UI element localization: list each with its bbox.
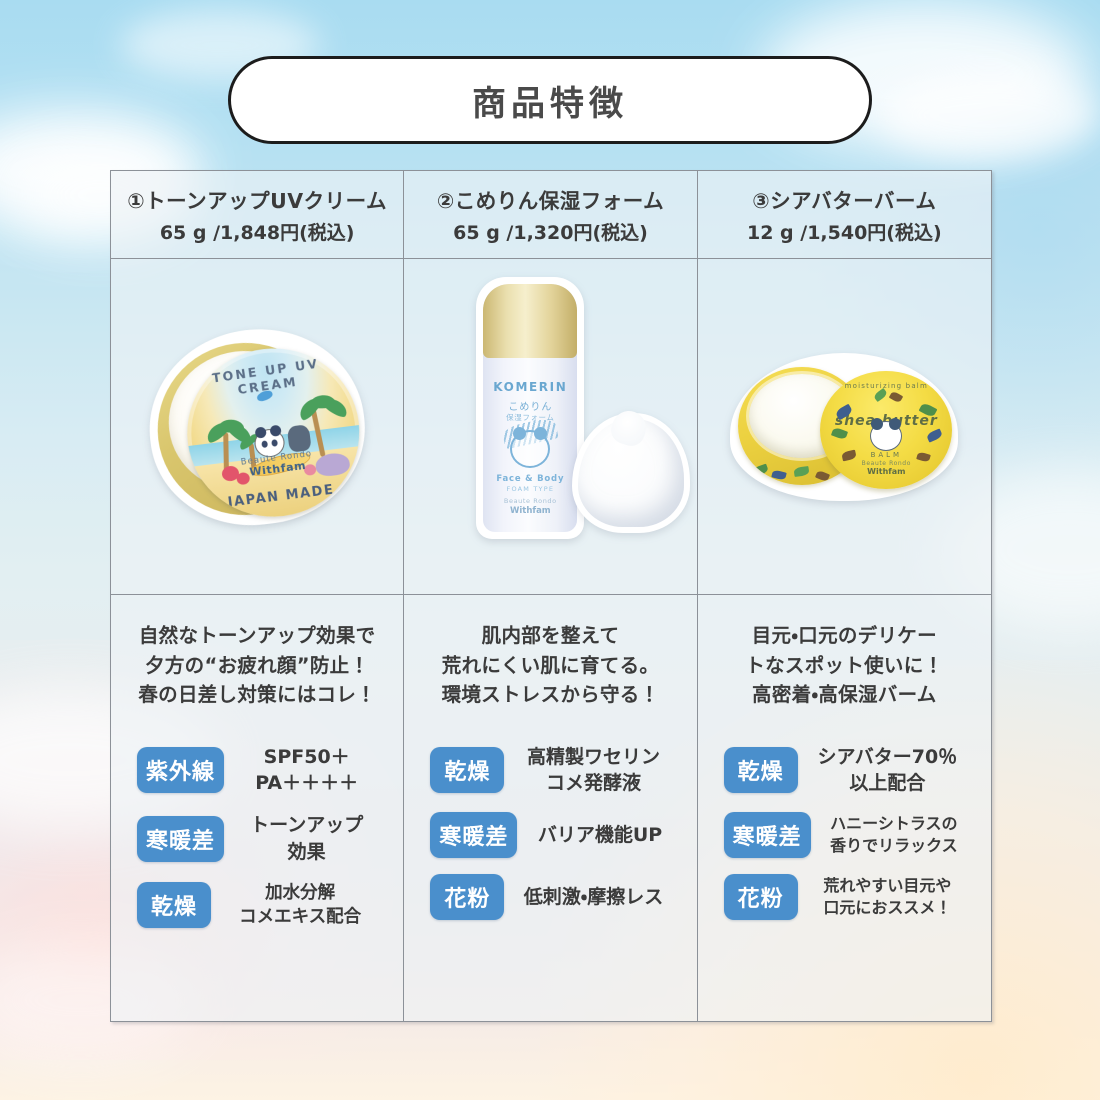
cloud-shape — [880, 70, 1100, 160]
feature-badge: 花粉 — [430, 874, 504, 920]
panda-mascot-icon — [870, 421, 902, 451]
feature-badge: 寒暖差 — [430, 812, 517, 858]
bottle-brand-block: Beaute Rondo Withfam — [483, 498, 577, 516]
leaf-decoration — [873, 387, 888, 401]
feature-badge: 乾燥 — [137, 882, 211, 928]
foam-blob-sticker — [572, 413, 690, 533]
bottle-sticker-outline: KOMERIN こめりん 保湿フォーム Face & Body FOAM TYP… — [476, 277, 584, 539]
balm-brand-block: Beaute Rondo Withfam — [820, 461, 952, 476]
balm-tin-lid: moisturizing balm shea butter BALM — [820, 371, 952, 489]
bottle-sub-line2: FOAM TYPE — [483, 485, 577, 493]
feature-row: 花粉 荒れやすい目元や 口元におススメ！ — [708, 874, 981, 920]
feature-row: 寒暖差 ハニーシトラスの 香りでリラックス — [708, 812, 981, 858]
leaf-decoration — [751, 463, 769, 477]
product-price-3: 12 g /1,540円(税込) — [747, 218, 942, 245]
balm-brand-line2: Withfam — [820, 468, 952, 477]
table-header-cell-1: ①トーンアップUVクリーム 65 g /1,848円(税込) — [111, 171, 404, 259]
bottle-brand-line1: Beaute Rondo — [483, 498, 577, 506]
product-image-cell-2: KOMERIN こめりん 保湿フォーム Face & Body FOAM TYP… — [404, 259, 697, 595]
feature-row: 乾燥 シアバター70％ 以上配合 — [708, 744, 981, 796]
bottle-sub-line1: Face & Body — [483, 474, 577, 484]
feature-text: 荒れやすい目元や 口元におススメ！ — [810, 875, 965, 919]
feature-text: SPF50＋ PA＋＋＋＋ — [236, 744, 377, 796]
product-comparison-table: ①トーンアップUVクリーム 65 g /1,848円(税込) ②こめりん保湿フォ… — [110, 170, 992, 1022]
foam-bottle: KOMERIN こめりん 保湿フォーム Face & Body FOAM TYP… — [483, 284, 577, 532]
feature-badge: 乾燥 — [724, 747, 798, 793]
product-name-1: ①トーンアップUVクリーム — [127, 184, 387, 214]
bottle-cap — [483, 284, 577, 358]
rock-shape — [287, 424, 312, 452]
jar-sticker-outline: TONE UP UV CREAM — [139, 317, 376, 537]
feature-list-2: 乾燥 高精製ワセリン コメ発酵液 寒暖差 バリア機能UP 花粉 低刺激・摩擦レス — [414, 744, 686, 920]
foam-blob — [578, 419, 684, 527]
page-title-pill: 商品特徴 — [228, 56, 872, 144]
feature-text: ハニーシトラスの 香りでリラックス — [823, 813, 965, 857]
feature-badge: 乾燥 — [430, 747, 504, 793]
feature-text: バリア機能UP — [529, 822, 670, 848]
feature-list-1: 紫外線 SPF50＋ PA＋＋＋＋ 寒暖差 トーンアップ 効果 乾燥 加水分解 … — [121, 744, 393, 929]
product-image-cell-1: TONE UP UV CREAM — [111, 259, 404, 595]
feature-row: 乾燥 高精製ワセリン コメ発酵液 — [414, 744, 686, 796]
feature-list-3: 乾燥 シアバター70％ 以上配合 寒暖差 ハニーシトラスの 香りでリラックス 花… — [708, 744, 981, 920]
table-header-cell-3: ③シアバターバーム 12 g /1,540円(税込) — [698, 171, 991, 259]
product-info-cell-2: 肌内部を整えて 荒れにくい肌に育てる。 環境ストレスから守る！ 乾燥 高精製ワセ… — [404, 595, 697, 1021]
product-price-2: 65 g /1,320円(税込) — [453, 218, 648, 245]
product-name-2: ②こめりん保湿フォーム — [437, 184, 664, 214]
feature-text: トーンアップ 効果 — [236, 812, 377, 864]
leaf-decoration — [926, 428, 943, 442]
feature-badge: 紫外線 — [137, 747, 224, 793]
product-price-1: 65 g /1,848円(税込) — [160, 218, 355, 245]
balm-lid-sub-text: BALM — [820, 451, 952, 459]
infographic-canvas: 商品特徴 ①トーンアップUVクリーム 65 g /1,848円(税込) ②こめり… — [0, 0, 1100, 1100]
feature-row: 寒暖差 トーンアップ 効果 — [121, 812, 393, 864]
uv-cream-jar-image: TONE UP UV CREAM — [111, 259, 403, 594]
bottle-brand-text: KOMERIN — [483, 380, 577, 394]
panda-mascot-icon — [510, 430, 550, 468]
foam-bottle-image: KOMERIN こめりん 保湿フォーム Face & Body FOAM TYP… — [404, 259, 696, 594]
feature-row: 乾燥 加水分解 コメエキス配合 — [121, 881, 393, 929]
product-info-cell-1: 自然なトーンアップ効果で 夕方の“お疲れ顔”防止！ 春の日差し対策にはコレ！ 紫… — [111, 595, 404, 1021]
feature-badge: 花粉 — [724, 874, 798, 920]
feature-text: シアバター70％ 以上配合 — [810, 744, 965, 796]
product-image-cell-3: moisturizing balm shea butter BALM — [698, 259, 991, 595]
table-header-cell-2: ②こめりん保湿フォーム 65 g /1,320円(税込) — [404, 171, 697, 259]
product-info-cell-3: 目元・口元のデリケー トなスポット使いに！ 高密着・高保湿バーム 乾燥 シアバタ… — [698, 595, 991, 1021]
bottle-jp-name: こめりん — [483, 398, 577, 413]
feature-text: 加水分解 コメエキス配合 — [223, 881, 377, 929]
bottle-brand-line2: Withfam — [483, 506, 577, 516]
balm-lid-top-text: moisturizing balm — [820, 382, 952, 390]
feature-badge: 寒暖差 — [724, 812, 811, 858]
balm-sticker-outline: moisturizing balm shea butter BALM — [730, 353, 958, 501]
product-description-1: 自然なトーンアップ効果で 夕方の“お疲れ顔”防止！ 春の日差し対策にはコレ！ — [138, 621, 376, 710]
leaf-decoration — [889, 390, 903, 403]
leaf-decoration — [772, 469, 788, 480]
product-description-2: 肌内部を整えて 荒れにくい肌に育てる。 環境ストレスから守る！ — [442, 621, 660, 710]
leaf-decoration — [794, 466, 810, 477]
product-name-3: ③シアバターバーム — [752, 184, 936, 214]
feature-row: 花粉 低刺激・摩擦レス — [414, 874, 686, 920]
feature-row: 寒暖差 バリア機能UP — [414, 812, 686, 858]
feature-text: 低刺激・摩擦レス — [516, 884, 670, 910]
page-title: 商品特徴 — [472, 76, 628, 125]
product-description-3: 目元・口元のデリケー トなスポット使いに！ 高密着・高保湿バーム — [745, 621, 943, 710]
feature-text: 高精製ワセリン コメ発酵液 — [516, 744, 670, 796]
feature-badge: 寒暖差 — [137, 816, 224, 862]
shea-balm-image: moisturizing balm shea butter BALM — [698, 259, 991, 594]
feature-row: 紫外線 SPF50＋ PA＋＋＋＋ — [121, 744, 393, 796]
